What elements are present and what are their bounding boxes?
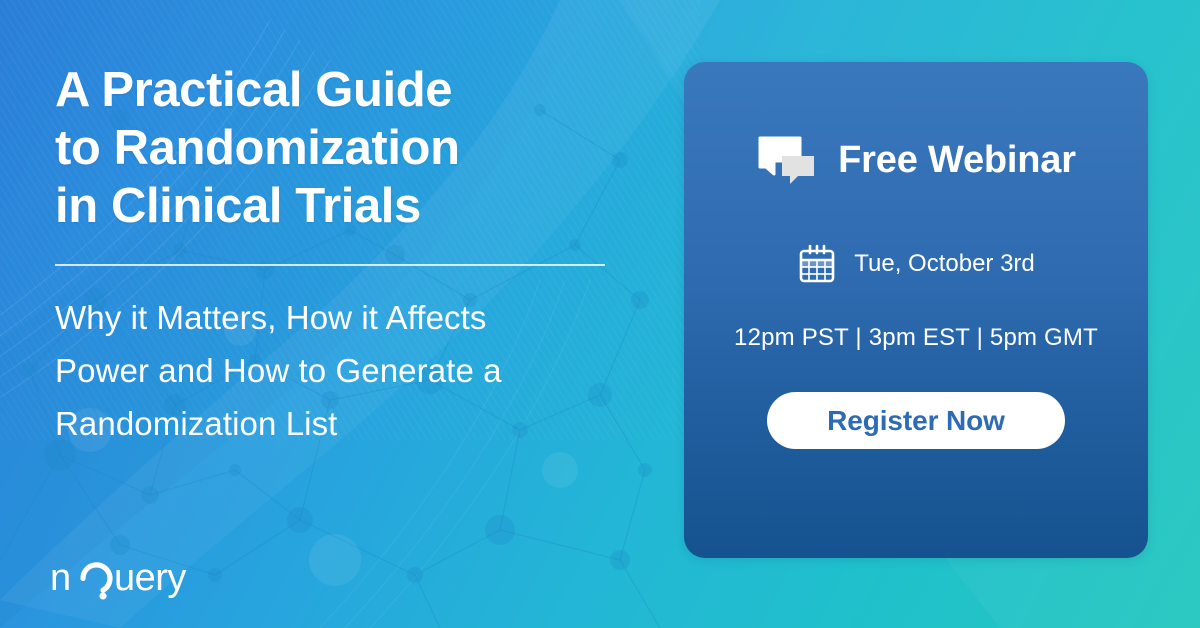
nquery-logo: n uery	[50, 556, 190, 602]
headline-line-3: in Clinical Trials	[55, 178, 635, 236]
page-subtitle: Why it Matters, How it Affects Power and…	[55, 292, 635, 450]
register-now-button[interactable]: Register Now	[767, 392, 1065, 449]
svg-text:n: n	[50, 557, 71, 599]
webinar-promo-banner: A Practical Guide to Randomization in Cl…	[0, 0, 1200, 628]
chat-bubbles-icon	[756, 134, 818, 186]
svg-text:uery: uery	[114, 557, 186, 599]
subtitle-line-3: Randomization List	[55, 398, 635, 451]
calendar-icon	[797, 244, 837, 284]
webinar-label: Free Webinar	[838, 141, 1076, 179]
headline-line-1: A Practical Guide	[55, 62, 635, 120]
webinar-date: Tue, October 3rd	[854, 252, 1035, 276]
webinar-time: 12pm PST | 3pm EST | 5pm GMT	[734, 326, 1098, 350]
headline-line-2: to Randomization	[55, 120, 635, 178]
webinar-date-row: Tue, October 3rd	[797, 244, 1035, 284]
page-title: A Practical Guide to Randomization in Cl…	[55, 62, 635, 235]
left-content-column: A Practical Guide to Randomization in Cl…	[55, 62, 635, 451]
subtitle-line-1: Why it Matters, How it Affects	[55, 292, 635, 345]
nquery-logo-mark: n uery	[50, 556, 190, 602]
webinar-info-card: Free Webinar	[684, 62, 1148, 558]
subtitle-line-2: Power and How to Generate a	[55, 345, 635, 398]
title-divider	[55, 264, 605, 266]
webinar-heading-row: Free Webinar	[756, 134, 1076, 186]
